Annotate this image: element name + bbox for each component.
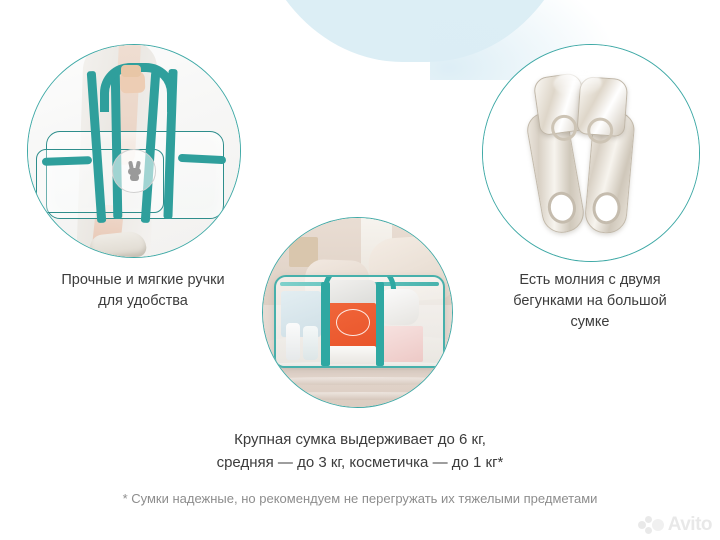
packed-item-bottle (303, 326, 318, 360)
photo-zipper (482, 44, 700, 262)
bed-fold (262, 392, 453, 400)
zipper-pull-hole (545, 190, 578, 226)
packed-item-bottle (286, 323, 299, 360)
orange-box-logo (336, 309, 370, 336)
brand-logo-badge (112, 149, 156, 193)
avito-logo-icon (638, 516, 664, 534)
photo-packed-bag (262, 217, 453, 408)
photo-handles (27, 44, 241, 258)
bag-strap (321, 282, 329, 365)
packed-item-white-box (326, 346, 376, 364)
bag-strap (376, 282, 384, 365)
avito-watermark: Avito (638, 514, 712, 536)
packed-item-pink-box (379, 326, 422, 362)
avito-wordmark: Avito (668, 514, 712, 536)
product-infographic: Прочные и мягкие ручки для удобства Есть… (0, 0, 720, 540)
footnote-text: * Сумки надежные, но рекомендуем не пере… (30, 490, 690, 508)
packed-item-towels (379, 289, 419, 325)
caption-capacity: Крупная сумка выдерживает до 6 кг, средн… (110, 428, 610, 475)
zipper-pulls-group (523, 66, 659, 240)
packed-transparent-bag (274, 275, 444, 368)
caption-handles: Прочные и мягкие ручки для удобства (16, 270, 270, 312)
bed-fold (262, 377, 453, 385)
zipper-connector-ring (551, 114, 578, 141)
caption-zipper: Есть молния с двумя бегунками на большой… (466, 270, 714, 333)
bunny-icon (127, 161, 142, 181)
zipper-pull-hole (591, 191, 622, 225)
bag-handle-grip (121, 65, 141, 77)
bag-handle-loop (323, 275, 396, 289)
